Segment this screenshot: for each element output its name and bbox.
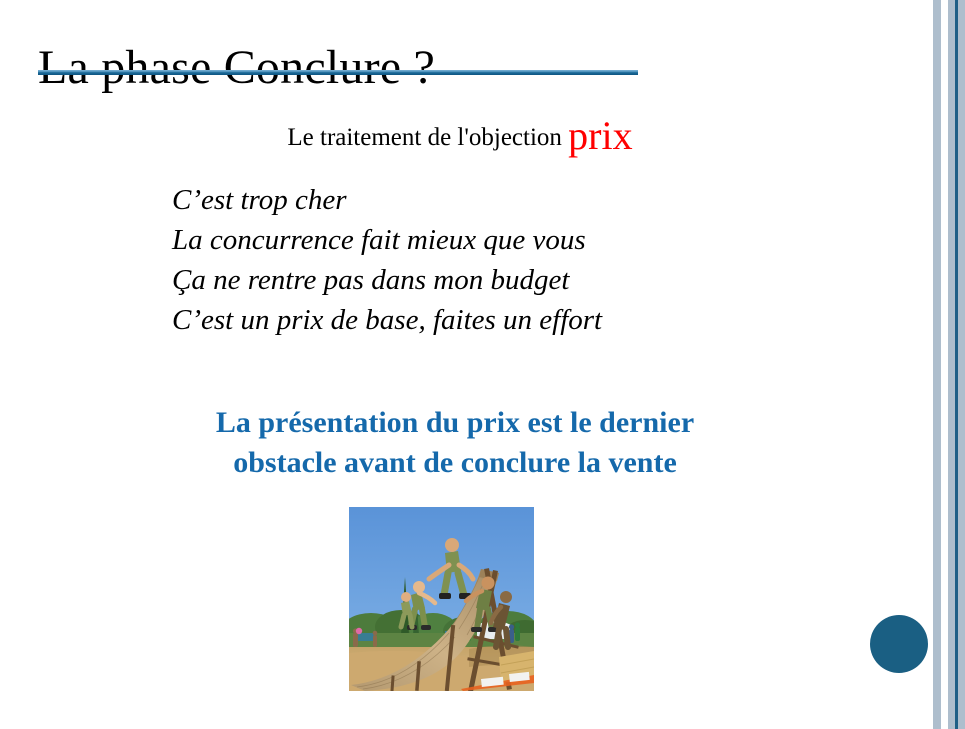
list-item: C’est un prix de base, faites un effort [172, 300, 812, 340]
decorative-circle [870, 615, 928, 673]
slide: La phase Conclure ? Le traitement de l'o… [0, 0, 965, 729]
band-stripe-light-3 [958, 0, 965, 729]
list-item: La concurrence fait mieux que vous [172, 220, 812, 260]
obstacle-course-photo [349, 507, 534, 691]
page-title: La phase Conclure ? [38, 40, 678, 95]
title-underline-rule [38, 70, 638, 75]
subtitle-keyword-prix: prix [568, 113, 632, 158]
key-statement-line: obstacle avant de conclure la vente [90, 443, 820, 483]
key-statement: La présentation du prix est le dernier o… [90, 403, 820, 483]
subtitle-lead-text: Le traitement de l'objection [287, 124, 568, 151]
subtitle-line: Le traitement de l'objection prix [0, 118, 920, 154]
band-stripe-light-1 [933, 0, 941, 729]
obstacle-course-illustration [349, 507, 534, 691]
list-item: C’est trop cher [172, 180, 812, 220]
objection-list: C’est trop cher La concurrence fait mieu… [172, 180, 812, 340]
decorative-right-band [930, 0, 965, 729]
band-stripe-light-2 [948, 0, 955, 729]
list-item: Ça ne rentre pas dans mon budget [172, 260, 812, 300]
key-statement-line: La présentation du prix est le dernier [90, 403, 820, 443]
